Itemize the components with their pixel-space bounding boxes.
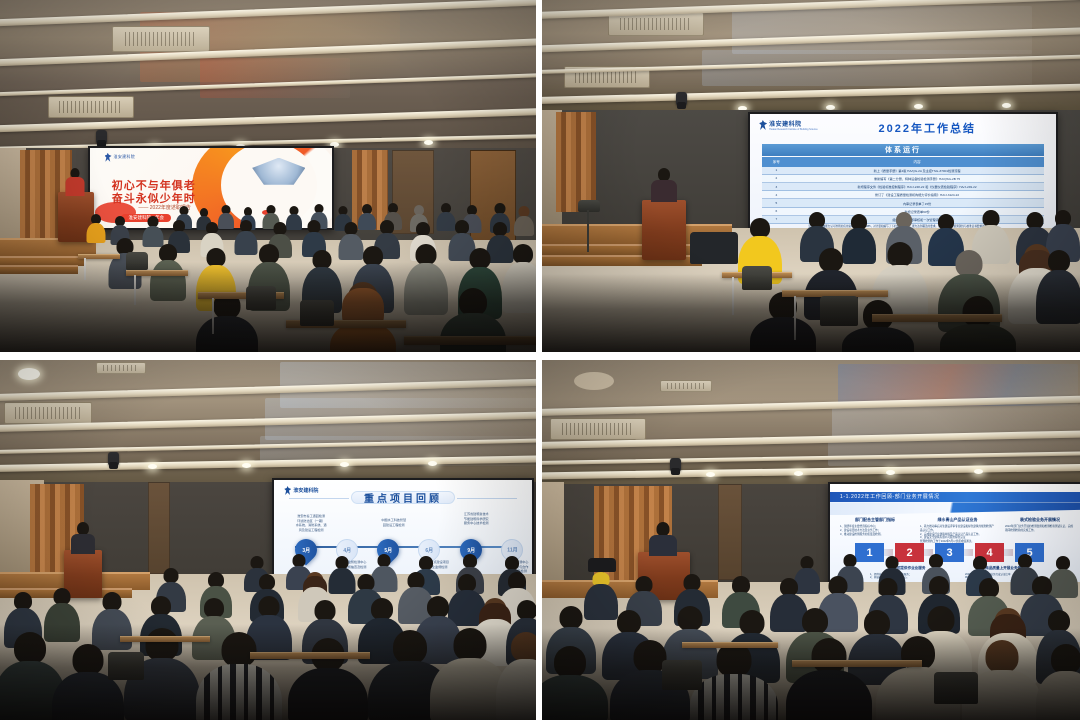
ac-vent-icon <box>660 380 712 392</box>
slide-title: 1-1.2022年工作回顾-部门业务开展情况 <box>830 493 940 500</box>
table-row: 4修订了《建设工程质量检测机构能力评价指南》HA/J-3124-22 <box>762 191 1044 199</box>
column-body: 1、围绕年度主要经营指标中心； 2、建设项目技术方法及业务工作； 3、推动建设检… <box>840 525 910 536</box>
column-body: 1、着力推动事后对生建设评审专业建设和绿色建筑的规划检测产品认证工作。 2、完成… <box>920 525 995 544</box>
slide-title: 重点项目回顾 <box>351 491 454 504</box>
ac-vent-icon <box>550 418 646 440</box>
ac-vent-icon <box>96 362 146 374</box>
institute-logo-icon <box>105 153 112 162</box>
org-name-en: Huaian Research Institute of Building Sc… <box>769 128 818 131</box>
presenter <box>650 168 678 202</box>
photo-top-right: 淮安建科院 Huaian Research Institute of Build… <box>542 0 1080 352</box>
table-row: 5内审记录表单了15份 <box>762 199 1044 207</box>
column-header: 绿水青山产品认证业务 <box>920 517 995 523</box>
slide-title: 2022年工作总结 <box>879 120 976 136</box>
projector-icon <box>108 452 119 466</box>
presenter <box>62 168 88 196</box>
projection-screen: 淮安建科院 重点项目回顾 3月 4月 5月 6月 9月 11月 淮安市秦工通园检… <box>274 480 532 580</box>
timeline-caption: 中国水工科技智慧 园建设工程检测 <box>362 518 426 527</box>
photo-bottom-right: 1-1.2022年工作回顾-部门业务开展情况 部门配合主管部门指标 绿水青山产品… <box>542 360 1080 720</box>
org-logo: 淮安建科院 Huaian Research Institute of Build… <box>759 119 818 131</box>
table-row: 1新上《质量手册》第4版 HA/QG-2A 及主控TSG-Z7001检测流程 <box>762 167 1044 175</box>
timeline-caption: 淮安市秦工通园检测 环境防治区（一期） 水系统、消防系统、通 风及建设工程检测 <box>279 514 343 533</box>
org-name: 淮安建科院 <box>293 487 318 494</box>
stool <box>578 200 600 212</box>
ac-vent-icon <box>112 26 210 52</box>
projector-icon <box>676 92 687 106</box>
photo-top-left: 淮安建科院 初心不与年俱老 奋斗永似少年时 —— 2022年度述职报告 淮安建科… <box>0 0 536 352</box>
column-header-index: 序号 <box>762 160 790 165</box>
table-row: 2重新编写《第二分册、特种设备检验检测手册》HA/QSG-2B 75 <box>762 175 1044 183</box>
table-row: 3新增程序文件《检验标准控制程序》HA/J-248-22 和《仪器仪表检验程序》… <box>762 183 1044 191</box>
ac-vent-icon <box>4 402 92 424</box>
timeline-caption: 江苏省建筑新技术 节能建筑科学研究 服务中心技术检测 <box>444 512 508 526</box>
photo-collage: 淮安建科院 初心不与年俱老 奋斗永似少年时 —— 2022年度述职报告 淮安建科… <box>0 0 1080 720</box>
institute-logo-icon <box>759 120 767 130</box>
speaker-box <box>690 232 738 264</box>
org-name: 淮安建科院 <box>114 154 136 160</box>
org-logo: 淮安建科院 <box>284 486 318 495</box>
ac-vent-icon <box>48 96 134 118</box>
org-name: 淮安建科院 <box>769 119 818 128</box>
table-title: 体系运行 <box>762 144 1044 156</box>
podium <box>642 200 686 260</box>
presenter <box>648 522 678 554</box>
chair <box>588 558 616 572</box>
presenter <box>70 522 96 552</box>
org-logo: 淮安建科院 <box>105 153 136 162</box>
column-header-content: 内容 <box>790 160 1043 165</box>
column-header: 部门配合主管部门指标 <box>840 517 910 523</box>
column-body: 2022年部门业务开展的检测监督和检测检验测试认证，完成期间检测检验的实施工作。 <box>1005 525 1075 533</box>
photo-bottom-left: 淮安建科院 重点项目回顾 3月 4月 5月 6月 9月 11月 淮安市秦工通园检… <box>0 360 536 720</box>
projector-icon <box>96 130 107 144</box>
institute-logo-icon <box>284 486 291 495</box>
projector-icon <box>670 458 681 472</box>
column-header: 装式检验业务开展情况 <box>1005 517 1075 523</box>
